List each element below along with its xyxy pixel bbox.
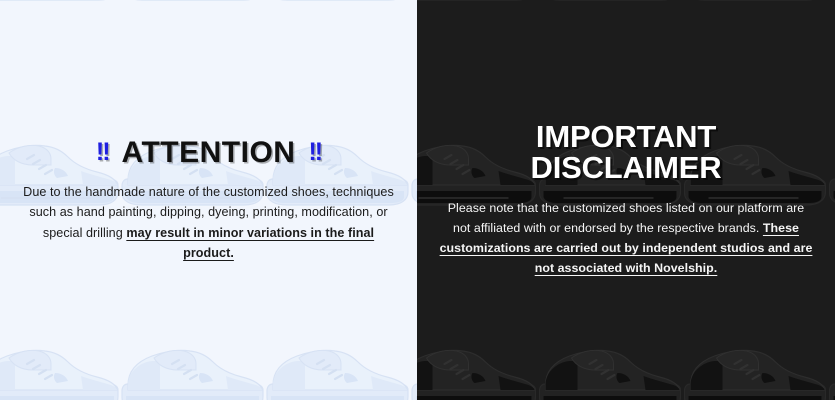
disclaimer-heading-line2: DISCLAIMER	[439, 152, 813, 183]
attention-heading-text: ATTENTION	[122, 136, 296, 169]
attention-body-emphasis: may result in minor variations in the fi…	[126, 226, 374, 260]
attention-content: !!ATTENTION!! Due to the handmade nature…	[0, 137, 417, 264]
disclaimer-heading-line1: IMPORTANT	[536, 119, 716, 154]
disclaimer-body: Please note that the customized shoes li…	[439, 199, 813, 278]
attention-heading: !!ATTENTION!!	[22, 137, 395, 168]
attention-panel: !!ATTENTION!! Due to the handmade nature…	[0, 0, 417, 400]
attention-body: Due to the handmade nature of the custom…	[22, 182, 395, 264]
disclaimer-panel: IMPORTANT DISCLAIMER Please note that th…	[417, 0, 835, 400]
exclamation-left-icon: !!	[96, 139, 109, 165]
disclaimer-body-text: Please note that the customized shoes li…	[448, 201, 805, 235]
disclaimer-content: IMPORTANT DISCLAIMER Please note that th…	[417, 121, 835, 278]
disclaimer-heading: IMPORTANT DISCLAIMER	[439, 121, 813, 183]
exclamation-right-icon: !!	[308, 139, 321, 165]
disclaimer-banner: !!ATTENTION!! Due to the handmade nature…	[0, 0, 835, 400]
